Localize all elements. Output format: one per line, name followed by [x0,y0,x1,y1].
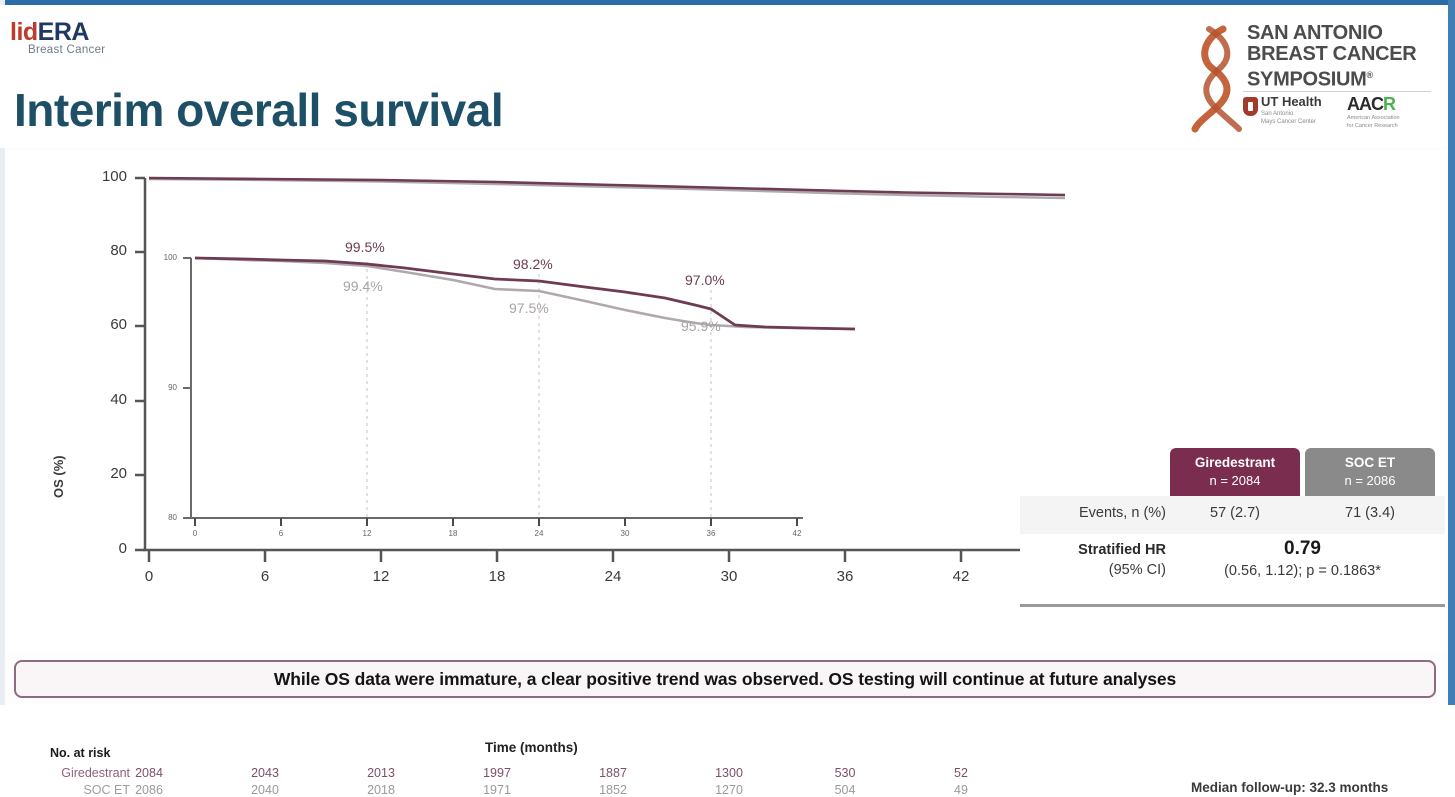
annotation-soc-36mo: 95.9% [681,318,721,334]
results-column-giredestrant-n: n = 2084 [1170,473,1300,489]
sabcs-partners: UT Health San Antonio Mays Cancer Center… [1243,95,1435,141]
aacr-r: R [1383,94,1395,114]
inset-x-tick-18: 18 [444,529,462,538]
at-risk-soc-36: 504 [817,783,873,797]
ut-health-sub1: San Antonio [1261,110,1316,118]
sabcs-ribbon-icon [1189,25,1247,133]
at-risk-gir-36: 530 [817,766,873,780]
at-risk-row-label-soc: SOC ET [15,783,130,797]
results-events-soc: 71 (3.4) [1305,505,1435,521]
results-hr-confidence-interval: (0.56, 1.12); p = 0.1863* [1170,563,1435,579]
annotation-soc-12mo: 99.4% [343,278,383,294]
x-tick-18: 18 [477,568,517,585]
inset-x-tick-12: 12 [358,529,376,538]
x-tick-6: 6 [245,568,285,585]
at-risk-soc-30: 1270 [701,783,757,797]
x-tick-12: 12 [361,568,401,585]
y-axis-label: OS (%) [51,455,66,498]
sabcs-line3-text: SYMPOSIUM [1247,69,1367,91]
at-risk-gir-6: 2043 [237,766,293,780]
x-tick-30: 30 [709,568,749,585]
x-tick-0: 0 [129,568,169,585]
ut-health-sub: San Antonio Mays Cancer Center [1261,110,1316,126]
at-risk-gir-0: 2084 [121,766,177,780]
aacr-wordmark: AACR [1347,95,1437,114]
inset-x-tick-6: 6 [272,529,290,538]
slide: lidERA Breast Cancer Interim overall sur… [0,0,1455,705]
sabcs-logo: SAN ANTONIO BREAST CANCER SYMPOSIUM® UT … [1185,13,1437,141]
results-summary-table: Giredestrant n = 2084 SOC ET n = 2086 Ev… [1020,448,1445,592]
x-tick-24: 24 [593,568,633,585]
lidera-logo-subtitle: Breast Cancer [28,44,105,56]
at-risk-title: No. at risk [50,746,110,760]
results-column-giredestrant-name: Giredestrant [1195,455,1275,470]
inset-y-tick-80: 80 [155,513,177,522]
results-table-bottom-rule [1020,604,1445,607]
sabcs-divider [1243,91,1431,92]
inset-x-tick-30: 30 [616,529,634,538]
inset-x-tick-42: 42 [788,529,806,538]
aacr-sub2: for Cancer Research [1347,123,1437,130]
y-tick-60: 60 [83,316,127,333]
at-risk-gir-24: 1887 [585,766,641,780]
annotation-giredestrant-24mo: 98.2% [513,256,553,272]
at-risk-gir-42: 52 [933,766,989,780]
aacr-aac: AAC [1347,94,1383,114]
slide-frame-right [1448,0,1455,705]
results-column-soc: SOC ET n = 2086 [1305,448,1435,496]
sabcs-registered-mark: ® [1367,70,1373,80]
annotation-soc-24mo: 97.5% [509,300,549,316]
results-hr-value: 0.79 [1170,538,1435,560]
inset-y-tick-100: 100 [155,253,177,262]
sabcs-wordmark: SAN ANTONIO BREAST CANCER SYMPOSIUM® [1247,23,1416,91]
main-curve-soc [149,179,1065,198]
lidera-logo-lid: lid [10,18,38,46]
results-hr-ci-label: (95% CI) [1020,562,1166,578]
conclusion-banner-text: While OS data were immature, a clear pos… [274,669,1176,690]
results-table-header: Giredestrant n = 2084 SOC ET n = 2086 [1020,448,1445,496]
lidera-logo-era: ERA [38,18,89,46]
inset-x-tick-24: 24 [530,529,548,538]
at-risk-soc-0: 2086 [121,783,177,797]
km-survival-chart: OS (%) 100 80 60 40 20 0 0 6 12 18 24 30… [5,150,1448,653]
aacr-sub1: American Association [1347,115,1437,122]
at-risk-soc-12: 2018 [353,783,409,797]
inset-x-tick-36: 36 [702,529,720,538]
at-risk-gir-30: 1300 [701,766,757,780]
at-risk-soc-42: 49 [933,783,989,797]
ut-health-name: UT Health [1261,95,1322,109]
conclusion-banner: While OS data were immature, a clear pos… [14,660,1436,698]
results-column-giredestrant: Giredestrant n = 2084 [1170,448,1300,496]
results-row-hazard-ratio: Stratified HR (95% CI) 0.79 (0.56, 1.12)… [1020,534,1445,592]
inset-y-tick-90: 90 [155,383,177,392]
x-tick-36: 36 [825,568,865,585]
page-title: Interim overall survival [14,83,503,137]
results-column-soc-n: n = 2086 [1305,473,1435,489]
at-risk-soc-6: 2040 [237,783,293,797]
at-risk-soc-18: 1971 [469,783,525,797]
y-tick-0: 0 [83,540,127,557]
x-tick-42: 42 [941,568,981,585]
sabcs-line1: SAN ANTONIO [1247,23,1416,44]
sabcs-line3: SYMPOSIUM® [1247,65,1416,91]
ut-health-sub2: Mays Cancer Center [1261,118,1316,126]
inset-x-tick-0: 0 [186,529,204,538]
y-tick-40: 40 [83,391,127,408]
at-risk-gir-12: 2013 [353,766,409,780]
y-tick-100: 100 [83,168,127,185]
results-column-soc-name: SOC ET [1345,455,1395,470]
aacr-logo: AACR American Association for Cancer Res… [1347,95,1437,130]
at-risk-row-label-giredestrant: Giredestrant [15,766,130,780]
results-events-label: Events, n (%) [1020,505,1166,521]
y-tick-20: 20 [83,465,127,482]
lidera-logo-wordmark: lidERA [10,19,105,45]
slide-header: lidERA Breast Cancer Interim overall sur… [0,5,1448,148]
results-hr-label: Stratified HR [1020,542,1166,558]
annotation-giredestrant-36mo: 97.0% [685,272,725,288]
median-follow-up-text: Median follow-up: 32.3 months [1191,780,1388,795]
at-risk-gir-18: 1997 [469,766,525,780]
ut-shield-icon [1243,97,1258,116]
at-risk-soc-24: 1852 [585,783,641,797]
sabcs-line2: BREAST CANCER [1247,44,1416,65]
results-row-events: Events, n (%) 57 (2.7) 71 (3.4) [1020,496,1445,534]
results-events-giredestrant: 57 (2.7) [1170,505,1300,521]
x-axis-label: Time (months) [485,740,578,755]
y-tick-80: 80 [83,242,127,259]
annotation-giredestrant-12mo: 99.5% [345,239,385,255]
lidera-trial-logo: lidERA Breast Cancer [10,19,105,56]
